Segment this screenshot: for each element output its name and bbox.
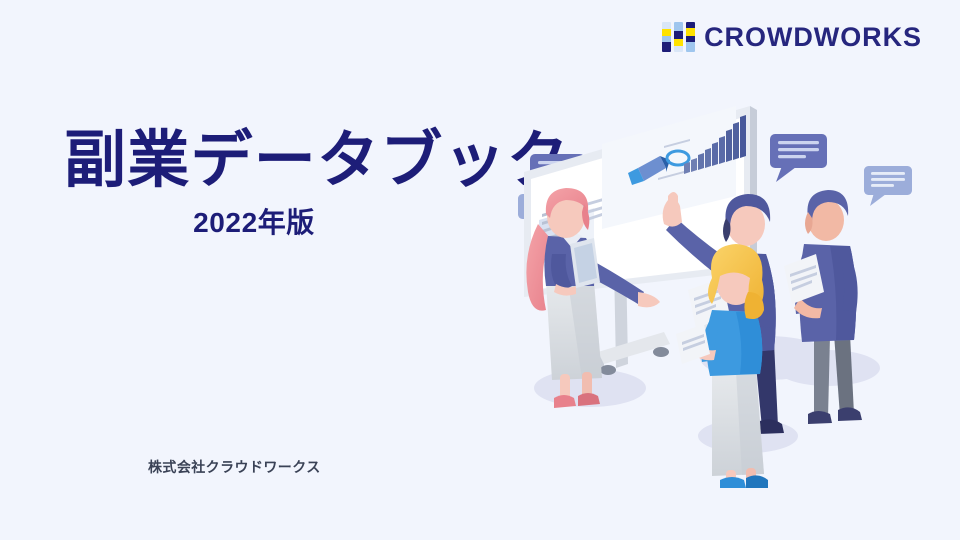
bubble-top-right-dark [770,134,827,182]
person-man-right [784,190,862,424]
brand-lockup: CROWDWORKS [662,22,922,52]
logo-bar-1-icon [662,22,671,52]
hero-illustration [498,96,944,488]
brand-wordmark: CROWDWORKS [704,24,922,51]
company-name: 株式会社クラウドワークス [148,457,321,477]
headline-block: 副業データブック 2022年版 [64,128,484,241]
page-title: 副業データブック [64,128,484,195]
person-woman-blond [676,244,768,488]
logo-bar-3-icon [686,22,695,52]
bubble-far-right-light [864,166,912,206]
page-subtitle: 2022年版 [64,201,444,241]
logo-bar-2-icon [674,22,683,52]
crowdworks-logo-mark-icon [662,22,695,52]
slide-canvas: CROWDWORKS 副業データブック 2022年版 株式会社クラウドワークス [0,0,960,540]
